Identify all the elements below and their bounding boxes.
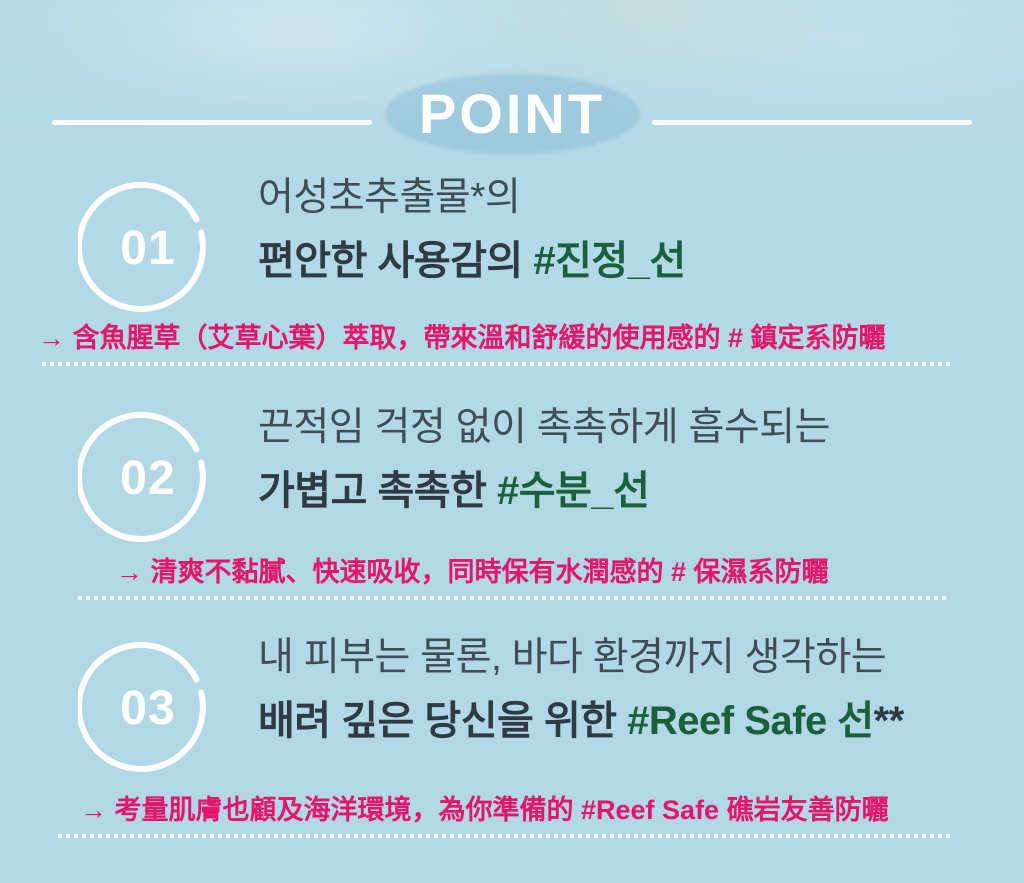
point-text-lines: 어성초추출물*의 편안한 사용감의 #진정_선 xyxy=(258,170,998,290)
point-line-2-highlight: #수분_선 xyxy=(497,469,649,513)
translation-row-03: → 考量肌膚也顧及海洋環境，為你準備的 #Reef Safe 礁岩友善防曬 xyxy=(0,790,1024,844)
dotted-divider-icon xyxy=(78,596,950,600)
point-line-2-plain: 편안한 사용감의 xyxy=(258,239,533,283)
dotted-divider-icon xyxy=(42,362,950,366)
point-line-2-highlight: #Reef Safe 선 xyxy=(627,699,873,743)
point-section-page: POINT 01 어성초추출물*의 편안한 사용감의 #진정_선 → 含魚腥草（… xyxy=(0,0,1024,883)
point-text-lines: 내 피부는 물론, 바다 환경까지 생각하는 배려 깊은 당신을 위한 #Ree… xyxy=(258,630,998,750)
page-title: POINT xyxy=(0,82,1024,146)
dotted-divider-icon xyxy=(58,834,950,838)
point-line-2-superscript: ** xyxy=(874,699,904,743)
point-number: 02 xyxy=(78,408,218,548)
point-number: 01 xyxy=(78,178,218,318)
point-line-2: 배려 깊은 당신을 위한 #Reef Safe 선** xyxy=(258,692,998,750)
translation-text: → 含魚腥草（艾草心葉）萃取，帶來溫和舒緩的使用感的 # 鎮定系防曬 xyxy=(38,318,886,358)
point-line-1: 내 피부는 물론, 바다 환경까지 생각하는 xyxy=(258,630,998,686)
point-text-lines: 끈적임 걱정 없이 촉촉하게 흡수되는 가볍고 촉촉한 #수분_선 xyxy=(258,400,998,520)
point-line-1: 어성초추출물*의 xyxy=(258,170,998,226)
translation-row-02: → 清爽不黏膩、快速吸收，同時保有水潤感的 # 保濕系防曬 xyxy=(0,552,1024,606)
section-header: POINT xyxy=(0,42,1024,132)
point-line-2-highlight: #진정_선 xyxy=(533,239,685,283)
point-line-2: 가볍고 촉촉한 #수분_선 xyxy=(258,462,998,520)
translation-text: → 清爽不黏膩、快速吸收，同時保有水潤感的 # 保濕系防曬 xyxy=(116,552,829,592)
point-line-2-plain: 가볍고 촉촉한 xyxy=(258,469,497,513)
translation-row-01: → 含魚腥草（艾草心葉）萃取，帶來溫和舒緩的使用感的 # 鎮定系防曬 xyxy=(0,318,1024,372)
point-line-2: 편안한 사용감의 #진정_선 xyxy=(258,232,998,290)
point-number: 03 xyxy=(78,638,218,778)
translation-text: → 考量肌膚也顧及海洋環境，為你準備的 #Reef Safe 礁岩友善防曬 xyxy=(80,790,889,830)
point-line-2-plain: 배려 깊은 당신을 위한 xyxy=(258,699,627,743)
point-line-1: 끈적임 걱정 없이 촉촉하게 흡수되는 xyxy=(258,400,998,456)
